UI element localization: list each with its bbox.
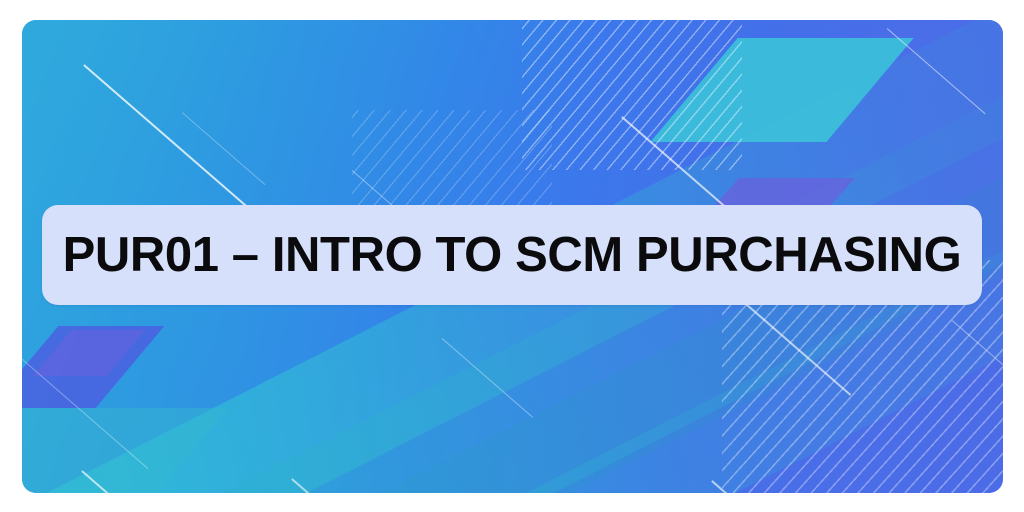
diagonal-hatch-middle-left	[352, 110, 552, 220]
title-pill: PUR01 – INTRO TO SCM PURCHASING	[42, 205, 982, 305]
diagonal-hatch-top-right	[522, 20, 742, 170]
gradient-banner-card: PUR01 – INTRO TO SCM PURCHASING	[22, 20, 1003, 493]
slide-root: PUR01 – INTRO TO SCM PURCHASING	[0, 0, 1024, 512]
page-title: PUR01 – INTRO TO SCM PURCHASING	[63, 231, 962, 280]
